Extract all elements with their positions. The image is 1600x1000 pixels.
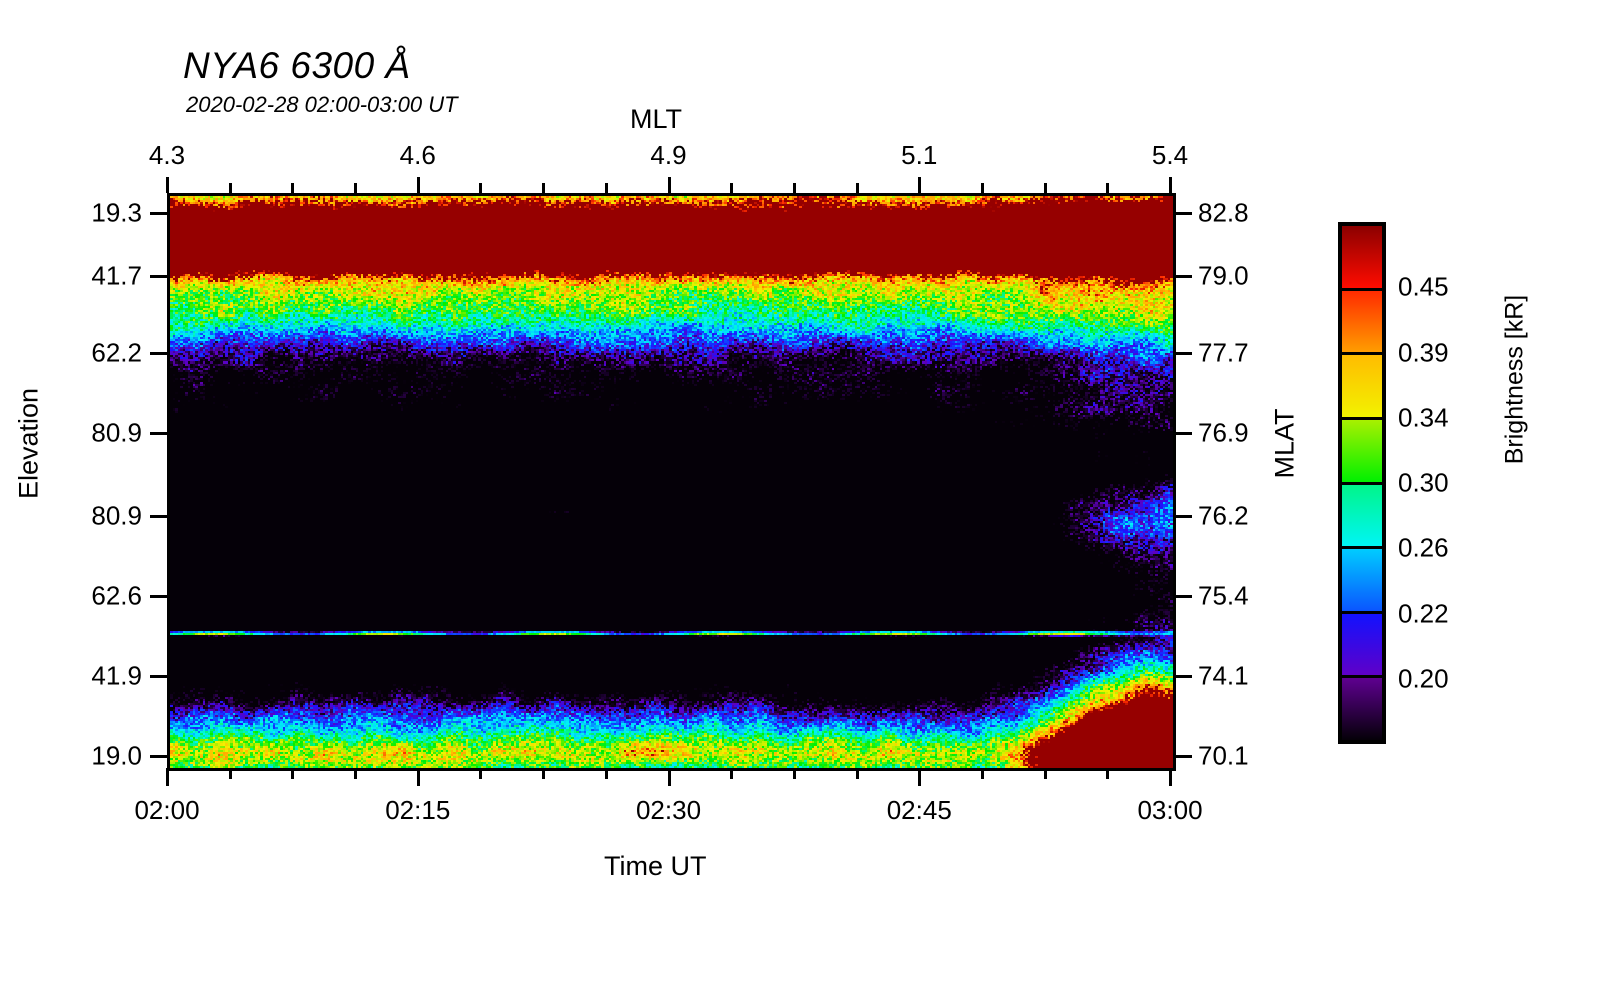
ticklabel-mlt-4: 5.4 (1152, 140, 1188, 171)
ticklabel-mlat-0: 82.8 (1198, 198, 1249, 229)
colorbar-ticklabel-5: 0.22 (1398, 598, 1449, 629)
tick-mlt-major-1 (417, 177, 420, 193)
ticklabel-time-0: 02:00 (134, 795, 199, 826)
tick-mlat-4 (1173, 515, 1192, 518)
ticklabel-mlat-3: 76.9 (1198, 418, 1249, 449)
tick-mlat-7 (1173, 755, 1192, 758)
colorbar-segment-5 (1342, 549, 1382, 614)
tick-mlt-major-4 (1169, 177, 1172, 193)
colorbar-segment-1 (1342, 291, 1382, 356)
colorbar-ticklabel-2: 0.34 (1398, 402, 1449, 433)
colorbar-ticklabel-0: 0.45 (1398, 272, 1449, 303)
page-title: NYA6 6300 Å (183, 45, 411, 87)
ticklabel-elev-3: 80.9 (91, 418, 142, 449)
ticklabel-mlat-2: 77.7 (1198, 338, 1249, 369)
tick-time-minor-1-2 (542, 768, 545, 779)
tick-elev-0 (150, 212, 167, 215)
tick-mlt-minor-2-2 (793, 183, 796, 193)
tick-elev-6 (150, 675, 167, 678)
ticklabel-mlt-0: 4.3 (149, 140, 185, 171)
tick-time-minor-1-1 (479, 768, 482, 779)
tick-time-major-0 (166, 768, 169, 786)
tick-elev-3 (150, 432, 167, 435)
tick-time-minor-2-3 (856, 768, 859, 779)
tick-mlt-minor-1-3 (605, 183, 608, 193)
tick-mlt-minor-3-2 (1044, 183, 1047, 193)
ticklabel-elev-1: 41.7 (91, 260, 142, 291)
ticklabel-elev-7: 19.0 (91, 741, 142, 772)
colorbar-segment-7 (1342, 678, 1382, 740)
tick-time-minor-1-3 (605, 768, 608, 779)
ticklabel-mlat-5: 75.4 (1198, 581, 1249, 612)
ticklabel-mlat-1: 79.0 (1198, 260, 1249, 291)
ticklabel-mlat-4: 76.2 (1198, 501, 1249, 532)
ticklabel-mlat-7: 70.1 (1198, 741, 1249, 772)
tick-mlt-major-3 (918, 177, 921, 193)
tick-time-minor-3-2 (1044, 768, 1047, 779)
colorbar-title-brightness: Brightness [kR] (1501, 265, 1530, 495)
tick-time-major-1 (417, 768, 420, 786)
tick-mlt-minor-3-1 (981, 183, 984, 193)
tick-mlat-5 (1173, 595, 1192, 598)
tick-elev-7 (150, 755, 167, 758)
keogram-figure: NYA6 6300 Å 2020-02-28 02:00-03:00 UT ML… (0, 0, 1600, 1000)
tick-time-minor-0-1 (229, 768, 232, 779)
tick-elev-1 (150, 275, 167, 278)
tick-mlt-minor-2-1 (730, 183, 733, 193)
ticklabel-time-2: 02:30 (636, 795, 701, 826)
tick-time-minor-0-2 (291, 768, 294, 779)
colorbar-ticklabel-3: 0.30 (1398, 468, 1449, 499)
tick-time-major-4 (1169, 768, 1172, 786)
left-axis-title-elevation: Elevation (14, 374, 45, 514)
tick-time-minor-0-3 (354, 768, 357, 779)
tick-mlat-3 (1173, 432, 1192, 435)
tick-elev-5 (150, 595, 167, 598)
ticklabel-elev-5: 62.6 (91, 581, 142, 612)
ticklabel-time-3: 02:45 (887, 795, 952, 826)
tick-time-minor-2-2 (793, 768, 796, 779)
colorbar[interactable] (1338, 222, 1386, 744)
tick-time-major-2 (668, 768, 671, 786)
ticklabel-elev-4: 80.9 (91, 501, 142, 532)
colorbar-segment-2 (1342, 355, 1382, 420)
tick-mlt-minor-0-3 (354, 183, 357, 193)
ticklabel-elev-6: 41.9 (91, 661, 142, 692)
ticklabel-mlt-3: 5.1 (901, 140, 937, 171)
ticklabel-mlt-2: 4.9 (650, 140, 686, 171)
colorbar-ticklabel-1: 0.39 (1398, 337, 1449, 368)
colorbar-ticklabel-4: 0.26 (1398, 533, 1449, 564)
tick-mlt-minor-0-2 (291, 183, 294, 193)
colorbar-segment-6 (1342, 614, 1382, 679)
ticklabel-elev-2: 62.2 (91, 338, 142, 369)
tick-time-minor-3-3 (1106, 768, 1109, 779)
ticklabel-mlt-1: 4.6 (400, 140, 436, 171)
tick-mlat-1 (1173, 275, 1192, 278)
colorbar-segment-3 (1342, 420, 1382, 485)
tick-time-major-3 (918, 768, 921, 786)
colorbar-segment-0 (1342, 226, 1382, 291)
tick-elev-4 (150, 515, 167, 518)
colorbar-ticklabel-6: 0.20 (1398, 663, 1449, 694)
right-axis-title-mlat: MLAT (1270, 374, 1301, 514)
keogram-plot-area[interactable] (167, 193, 1176, 771)
ticklabel-time-4: 03:00 (1137, 795, 1202, 826)
tick-elev-2 (150, 352, 167, 355)
colorbar-segment-4 (1342, 485, 1382, 550)
page-subtitle: 2020-02-28 02:00-03:00 UT (186, 92, 458, 118)
tick-mlt-minor-0-1 (229, 183, 232, 193)
tick-mlat-6 (1173, 675, 1192, 678)
tick-mlt-minor-3-3 (1106, 183, 1109, 193)
ticklabel-elev-0: 19.3 (91, 198, 142, 229)
ticklabel-time-1: 02:15 (385, 795, 450, 826)
tick-time-minor-2-1 (730, 768, 733, 779)
tick-mlt-major-0 (166, 177, 169, 193)
tick-time-minor-3-1 (981, 768, 984, 779)
tick-mlt-minor-2-3 (856, 183, 859, 193)
tick-mlat-0 (1173, 212, 1192, 215)
ticklabel-mlat-6: 74.1 (1198, 661, 1249, 692)
tick-mlt-major-2 (668, 177, 671, 193)
tick-mlt-minor-1-2 (542, 183, 545, 193)
keogram-image (170, 196, 1173, 768)
top-axis-title-mlt: MLT (630, 104, 682, 135)
tick-mlat-2 (1173, 352, 1192, 355)
tick-mlt-minor-1-1 (479, 183, 482, 193)
bottom-axis-title-time: Time UT (604, 851, 707, 882)
